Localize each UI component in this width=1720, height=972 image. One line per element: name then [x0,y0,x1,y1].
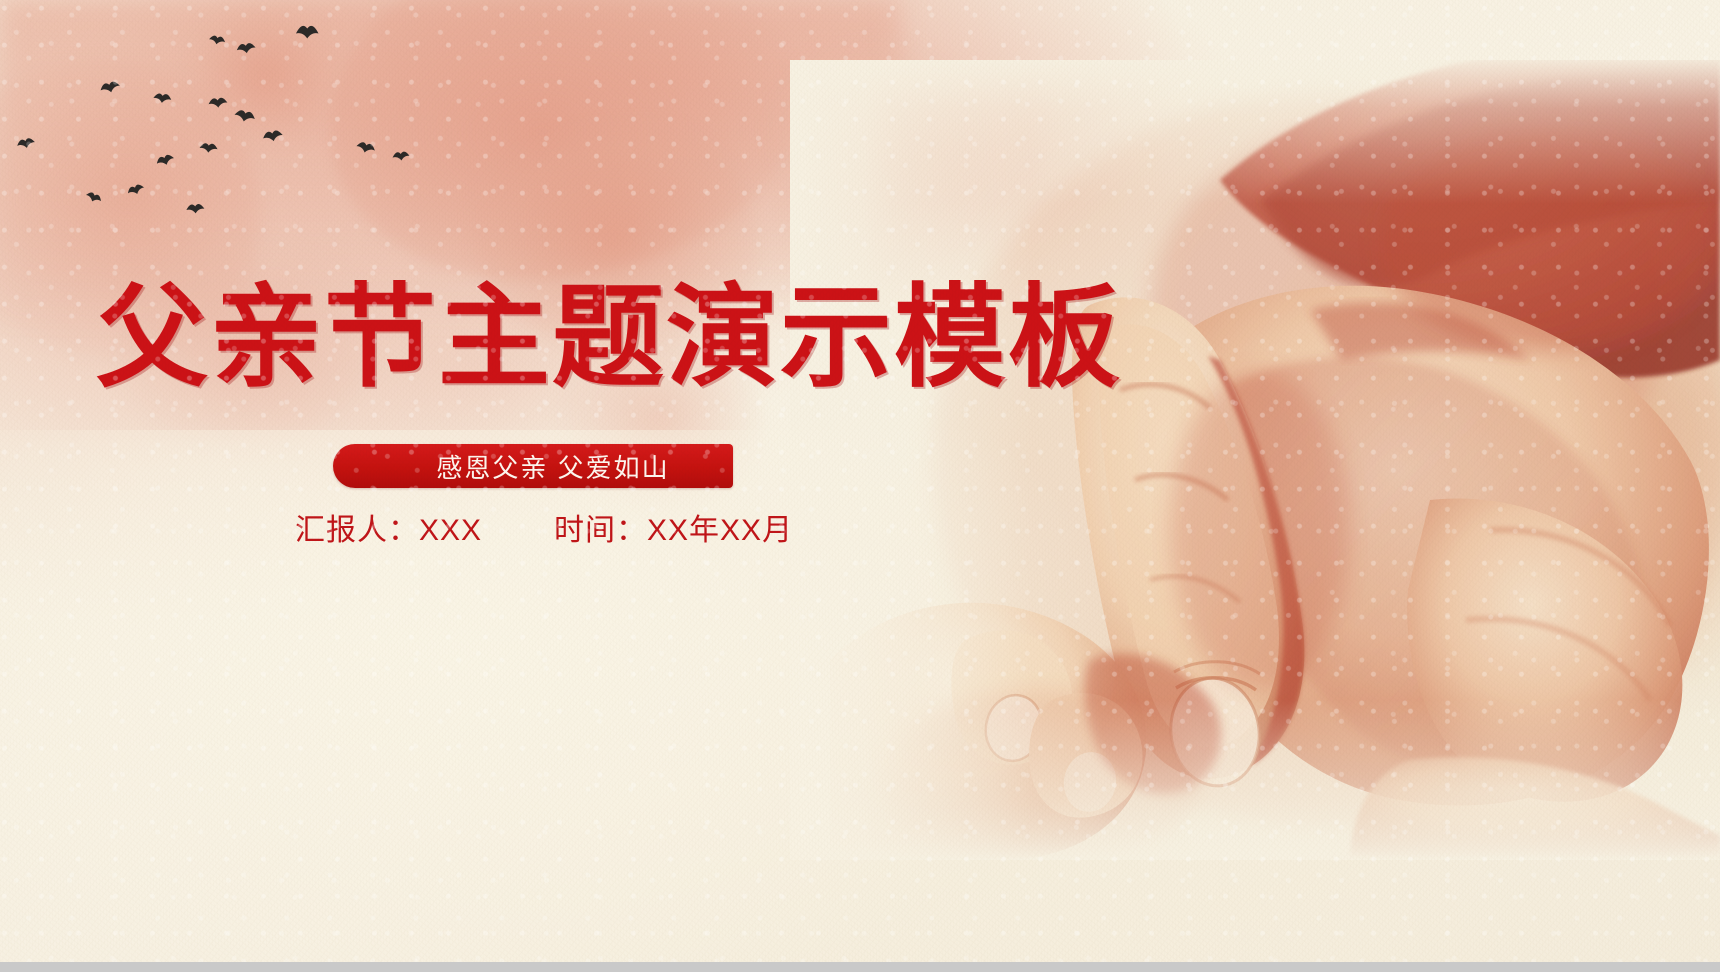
slide-meta: 汇报人：XXX 时间：XX年XX月 [295,505,793,549]
bottom-strip [0,962,1720,972]
date-label: 时间：XX年XX月 [554,505,793,549]
presenter-label: 汇报人：XXX [295,505,482,549]
subtitle-badge: 感恩父亲 父爱如山 [333,444,733,488]
subtitle-badge-label: 感恩父亲 父爱如山 [333,444,733,488]
birds-flock [0,0,420,230]
presentation-slide: 父亲节主题演示模板 感恩父亲 父爱如山 汇报人：XXX 时间：XX年XX月 [0,0,1720,972]
slide-title: 父亲节主题演示模板 [96,282,1122,394]
